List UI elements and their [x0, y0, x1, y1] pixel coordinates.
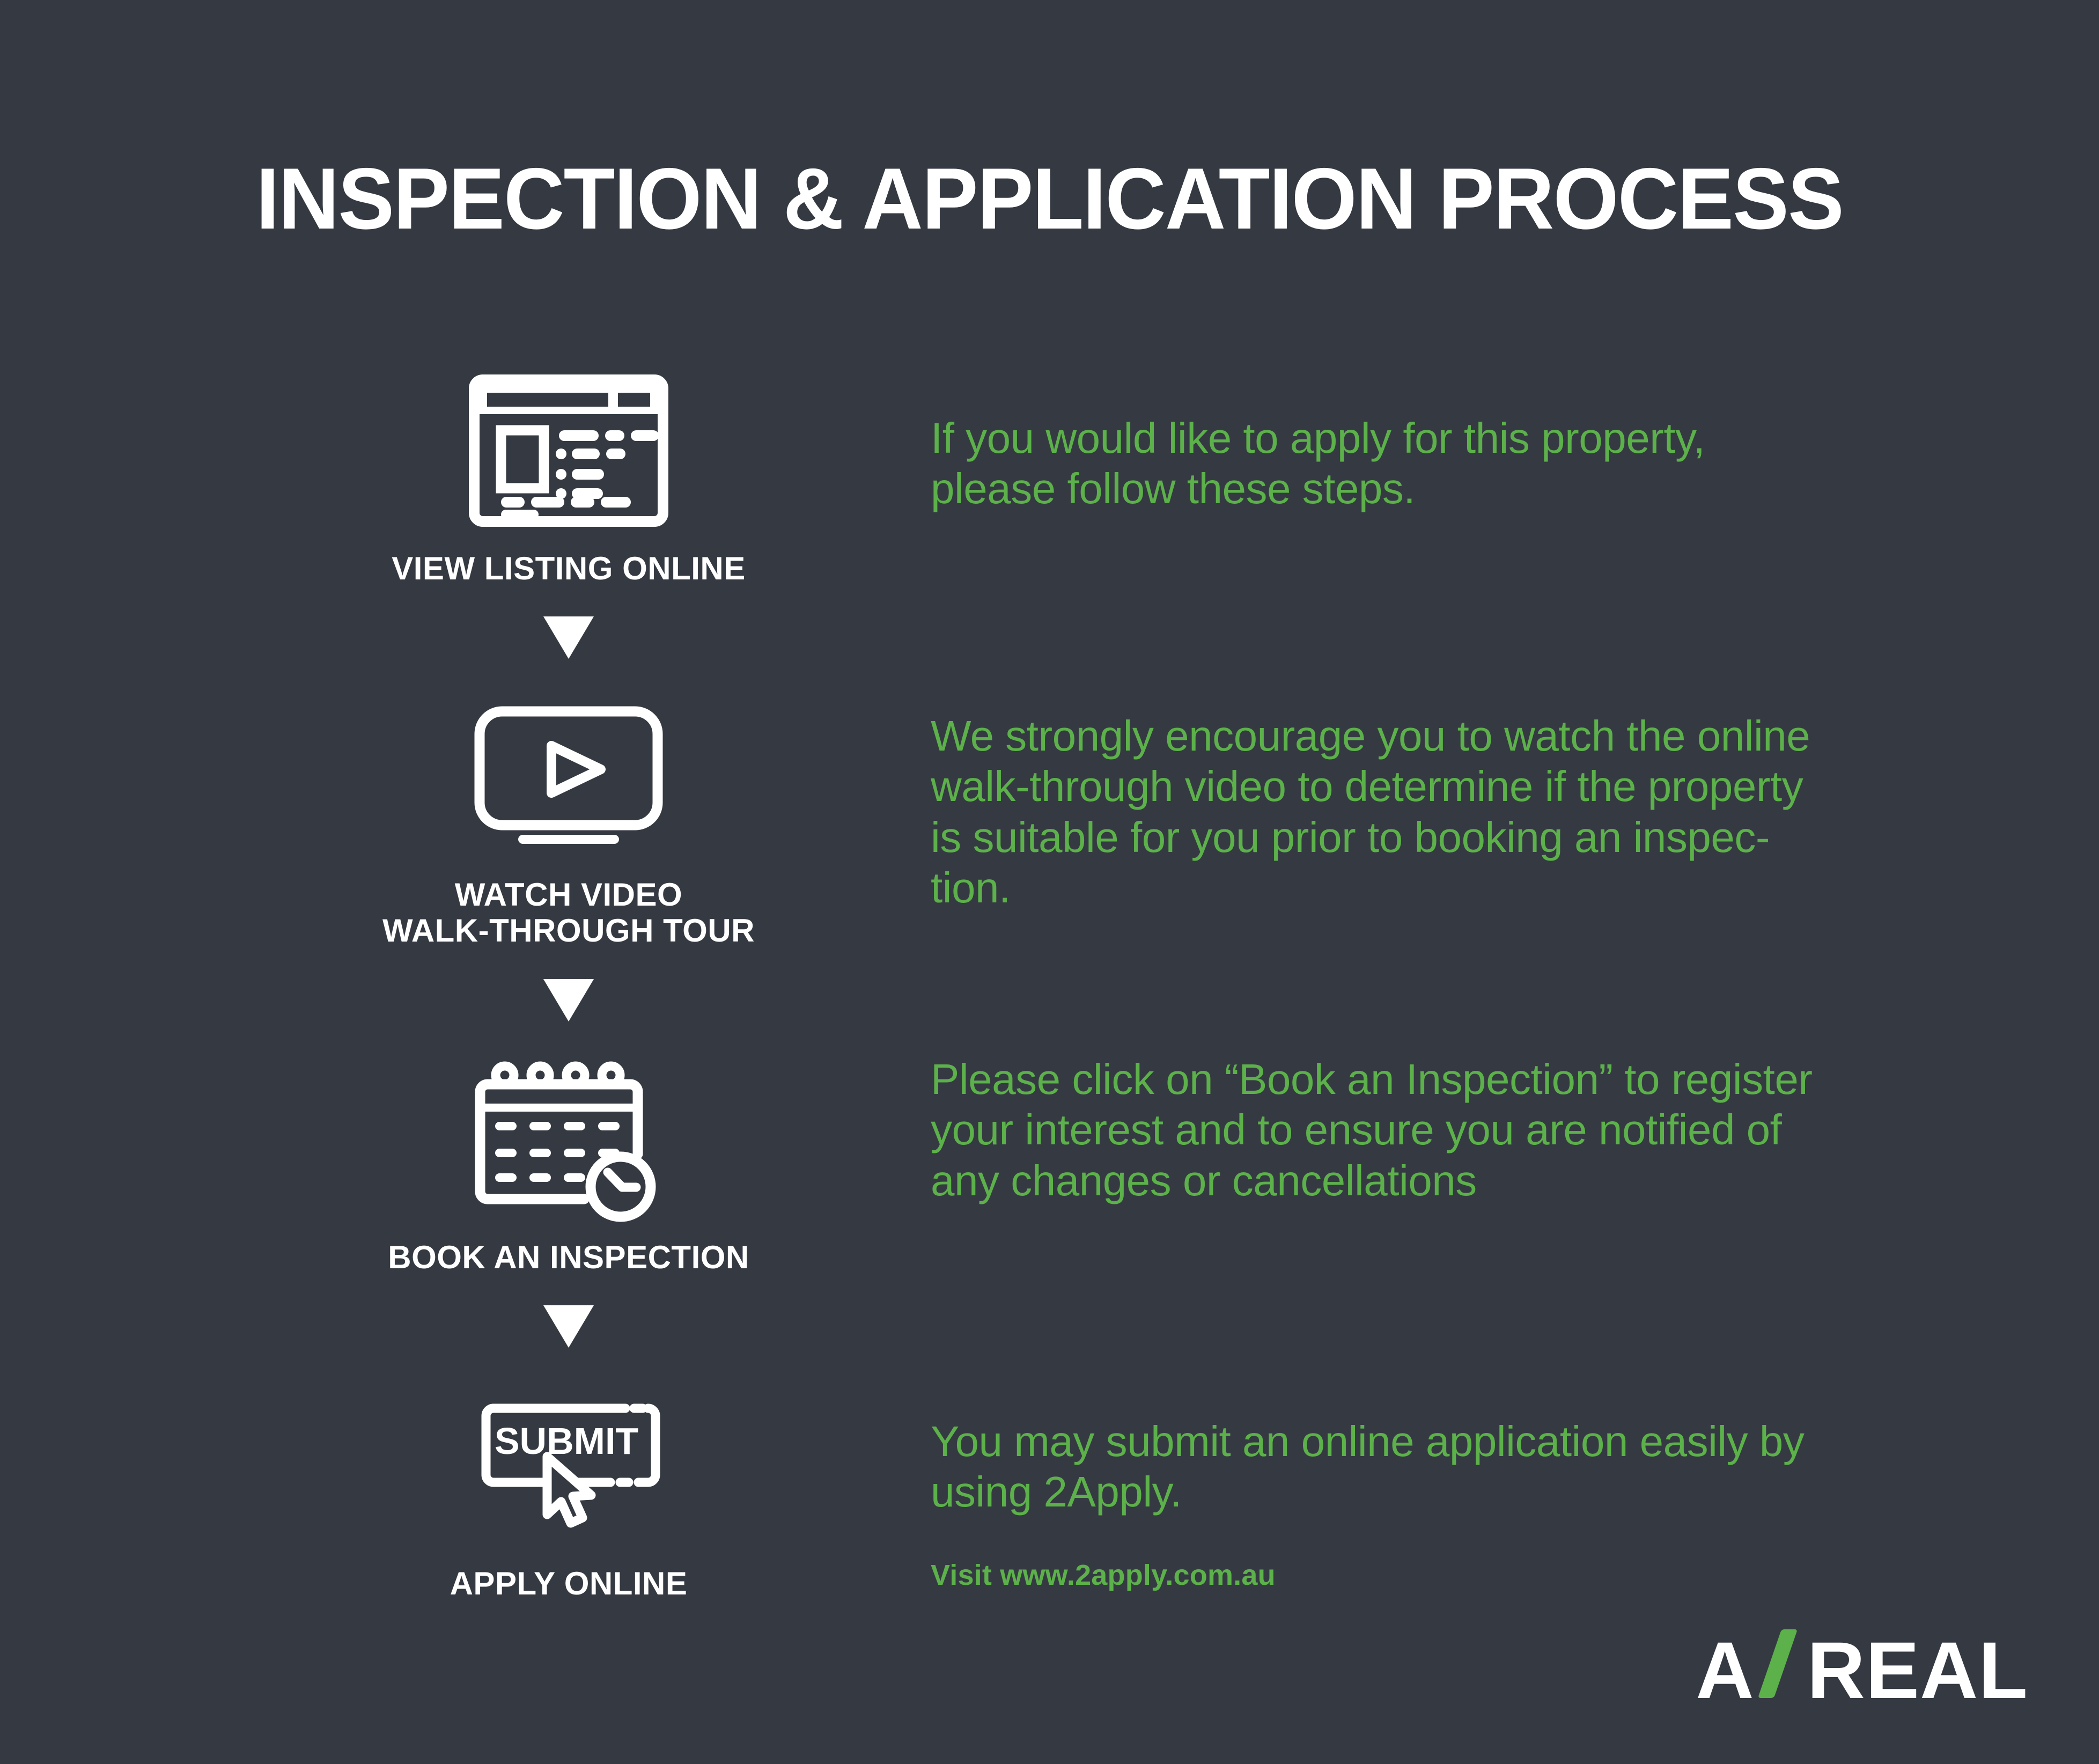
calendar-clock-icon [300, 1043, 837, 1236]
paragraph-book-inspection: Please click on “Book an Inspection” to … [931, 1054, 1891, 1206]
step-label: BOOK AN INSPECTION [300, 1239, 837, 1275]
poster-canvas: INSPECTION & APPLICATION PROCESS [0, 0, 2099, 1764]
paragraph-watch-video: We strongly encourage you to watch the o… [931, 711, 1891, 914]
page-title: INSPECTION & APPLICATION PROCESS [32, 156, 2068, 242]
step-label: WATCH VIDEO WALK-THROUGH TOUR [300, 877, 837, 949]
web-listing-icon [300, 354, 837, 547]
paragraph-apply-online: You may submit an online application eas… [931, 1416, 1891, 1518]
down-triangle-arrow-1 [543, 616, 594, 659]
down-triangle-arrow-2 [543, 979, 594, 1021]
video-play-monitor-icon [300, 680, 837, 873]
step-view-listing: VIEW LISTING ONLINE [300, 354, 837, 586]
spacer [300, 1348, 837, 1369]
step-book-inspection: BOOK AN INSPECTION [300, 1043, 837, 1275]
step-watch-video: WATCH VIDEO WALK-THROUGH TOUR [300, 680, 837, 949]
step-label: APPLY ONLINE [300, 1565, 837, 1601]
areal-logo: A REAL [1696, 1624, 2028, 1717]
paragraph-apply-intro: If you would like to apply for this prop… [931, 413, 1891, 514]
step-apply-online: SUBMIT APPLY ONLINE [300, 1369, 837, 1601]
process-steps-column: VIEW LISTING ONLINE WATCH VIDEO WALK-THR… [300, 354, 837, 1601]
logo-letter-a: A [1696, 1624, 1754, 1717]
step-label: VIEW LISTING ONLINE [300, 550, 837, 586]
logo-word-real: REAL [1807, 1624, 2028, 1717]
spacer [300, 586, 837, 616]
down-triangle-arrow-3 [543, 1305, 594, 1348]
submit-icon-label: SUBMIT [495, 1420, 638, 1462]
spacer [300, 1021, 837, 1043]
spacer [300, 1275, 837, 1305]
submit-button-cursor-icon: SUBMIT [300, 1369, 837, 1562]
spacer [300, 949, 837, 979]
slash-icon [1762, 1629, 1804, 1698]
visit-2apply-link[interactable]: Visit www.2apply.com.au [931, 1559, 1276, 1592]
spacer [300, 659, 837, 680]
